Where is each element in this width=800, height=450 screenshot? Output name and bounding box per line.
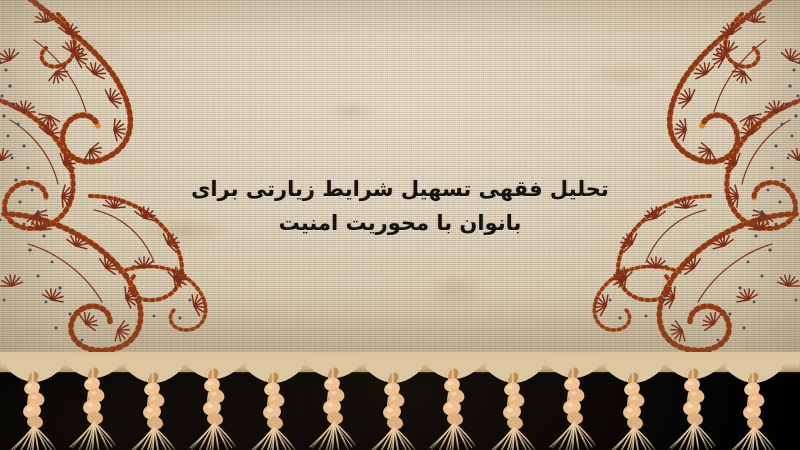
title-block: تحلیل فقهی تسهیل شرایط زیارتی برای بانوا… [0, 172, 800, 240]
tassel-row [6, 356, 782, 450]
knotted-tassel-fringe [0, 352, 800, 450]
title-line-1: تحلیل فقهی تسهیل شرایط زیارتی برای [0, 172, 800, 206]
image-canvas: تحلیل فقهی تسهیل شرایط زیارتی برای بانوا… [0, 0, 800, 450]
title-line-2: بانوان با محوریت امنیت [0, 206, 800, 240]
